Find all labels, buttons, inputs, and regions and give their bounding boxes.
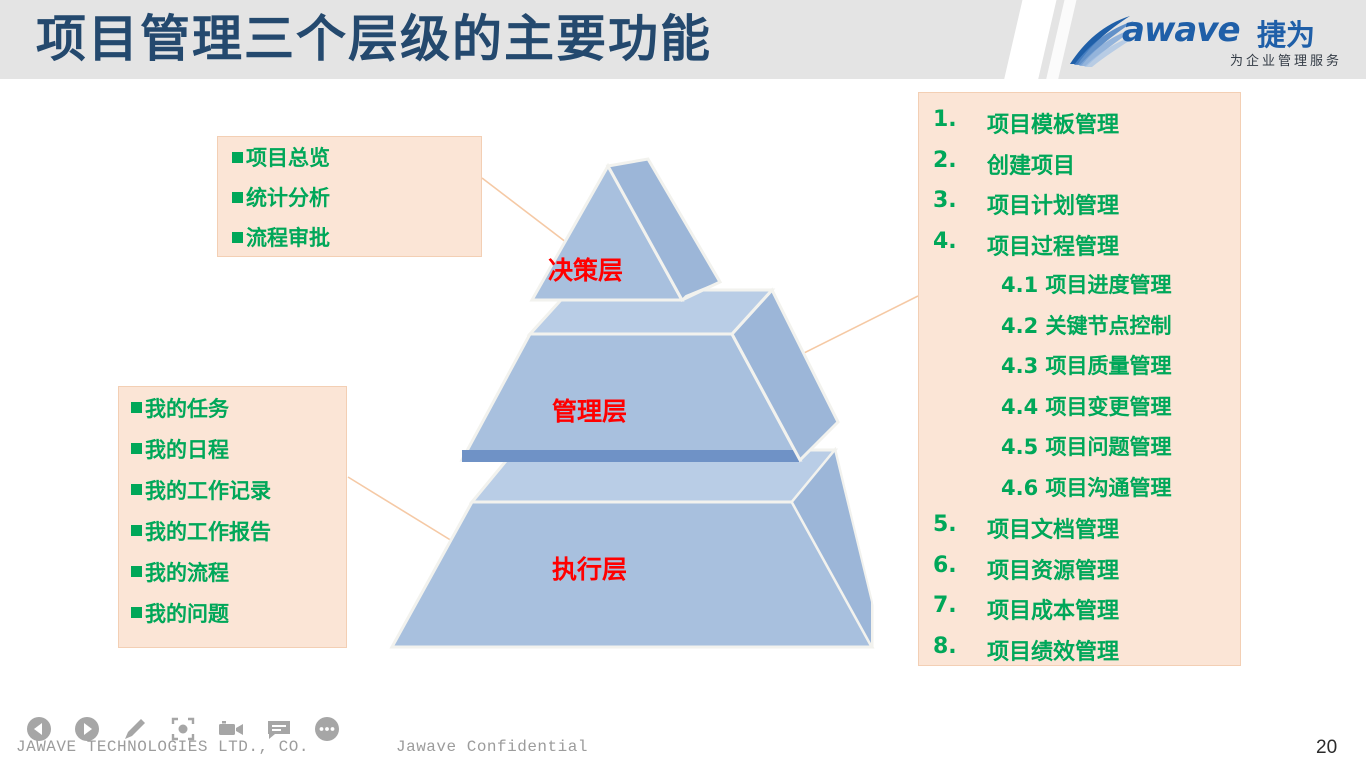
pyramid-label-decision: 决策层	[548, 251, 623, 287]
list-item-label: 项目总览	[246, 142, 330, 172]
list-item[interactable]: 4.6 项目沟通管理	[919, 472, 1240, 513]
square-bullet-icon	[131, 566, 142, 577]
page-title: 项目管理三个层级的主要功能	[36, 4, 712, 74]
logo-brand-cn: 捷为	[1257, 12, 1315, 54]
callout-box-execution[interactable]: 我的任务 我的日程 我的工作记录 我的工作报告 我的流程 我的问题	[118, 386, 347, 648]
list-item-label: 4.2 关键节点控制	[1001, 310, 1172, 340]
list-item[interactable]: 4.5 项目问题管理	[919, 431, 1240, 472]
list-item-number: 1.	[919, 107, 987, 132]
list-item[interactable]: 4.1 项目进度管理	[919, 269, 1240, 310]
square-bullet-icon	[232, 192, 243, 203]
list-item-label: 我的流程	[145, 557, 229, 587]
list-item-number: 3.	[919, 188, 987, 213]
list-item[interactable]: 4.3 项目质量管理	[919, 350, 1240, 391]
list-item-label: 项目计划管理	[987, 188, 1119, 220]
list-item[interactable]: 统计分析	[232, 177, 481, 217]
list-item[interactable]: 8.项目绩效管理	[919, 634, 1240, 675]
page-number: 20	[1316, 737, 1337, 759]
list-item[interactable]: 我的工作报告	[131, 510, 346, 551]
list-item[interactable]: 项目总览	[232, 137, 481, 177]
callout-box-management[interactable]: 1.项目模板管理 2.创建项目 3.项目计划管理 4.项目过程管理 4.1 项目…	[918, 92, 1241, 666]
square-bullet-icon	[232, 152, 243, 163]
pyramid-label-execution: 执行层	[552, 550, 627, 586]
list-item-label: 我的工作记录	[145, 475, 271, 505]
list-item-label: 项目文档管理	[987, 512, 1119, 544]
list-item[interactable]: 1.项目模板管理	[919, 107, 1240, 148]
pyramid-label-management: 管理层	[552, 392, 627, 428]
list-item-number: 8.	[919, 634, 987, 659]
list-item-number: 6.	[919, 553, 987, 578]
list-item-label: 项目成本管理	[987, 593, 1119, 625]
list-item-number: 7.	[919, 593, 987, 618]
logo-tagline: 为企业管理服务	[1230, 50, 1342, 69]
list-item[interactable]: 我的流程	[131, 551, 346, 592]
square-bullet-icon	[131, 443, 142, 454]
list-item[interactable]: 我的问题	[131, 592, 346, 633]
square-bullet-icon	[131, 525, 142, 536]
pyramid-layer-management[interactable]	[462, 290, 838, 462]
list-item-label: 4.6 项目沟通管理	[1001, 472, 1172, 502]
list-item-label: 4.5 项目问题管理	[1001, 431, 1172, 461]
list-item-label: 我的任务	[145, 393, 229, 423]
list-item[interactable]: 5.项目文档管理	[919, 512, 1240, 553]
list-item-label: 我的日程	[145, 434, 229, 464]
footer-confidential-text: Jawave Confidential	[396, 738, 588, 756]
list-item-label: 项目过程管理	[987, 229, 1119, 261]
list-item[interactable]: 6.项目资源管理	[919, 553, 1240, 594]
pyramid-layer-execution[interactable]	[392, 450, 872, 647]
square-bullet-icon	[131, 402, 142, 413]
list-item-label: 项目模板管理	[987, 107, 1119, 139]
slide-header: 项目管理三个层级的主要功能 awave 捷为 为企业管理服务	[0, 0, 1366, 79]
list-item-label: 流程审批	[246, 222, 330, 252]
list-item-label: 项目资源管理	[987, 553, 1119, 585]
list-item[interactable]: 我的任务	[131, 387, 346, 428]
list-item[interactable]: 流程审批	[232, 217, 481, 257]
list-item-number: 2.	[919, 148, 987, 173]
list-item-label: 统计分析	[246, 182, 330, 212]
callout-box-decision[interactable]: 项目总览 统计分析 流程审批	[217, 136, 482, 257]
square-bullet-icon	[232, 232, 243, 243]
list-item-number: 5.	[919, 512, 987, 537]
list-item-label: 4.1 项目进度管理	[1001, 269, 1172, 299]
list-item-number: 4.	[919, 229, 987, 254]
list-item-label: 我的工作报告	[145, 516, 271, 546]
list-item[interactable]: 4.4 项目变更管理	[919, 391, 1240, 432]
footer-company-text: JAWAVE TECHNOLOGIES LTD., CO.	[16, 738, 309, 756]
list-item[interactable]: 4.2 关键节点控制	[919, 310, 1240, 351]
list-item[interactable]: 3.项目计划管理	[919, 188, 1240, 229]
logo-brand-latin: awave	[1122, 10, 1240, 50]
list-item-label: 我的问题	[145, 598, 229, 628]
list-item[interactable]: 2.创建项目	[919, 148, 1240, 189]
list-item-label: 4.3 项目质量管理	[1001, 350, 1172, 380]
list-item[interactable]: 我的日程	[131, 428, 346, 469]
list-item[interactable]: 我的工作记录	[131, 469, 346, 510]
jawave-logo: awave 捷为 为企业管理服务	[1064, 6, 1344, 72]
more-icon[interactable]	[312, 714, 342, 744]
list-item-label: 4.4 项目变更管理	[1001, 391, 1172, 421]
square-bullet-icon	[131, 607, 142, 618]
list-item[interactable]: 4.项目过程管理	[919, 229, 1240, 270]
list-item-label: 创建项目	[987, 148, 1075, 180]
square-bullet-icon	[131, 484, 142, 495]
list-item[interactable]: 7.项目成本管理	[919, 593, 1240, 634]
list-item-label: 项目绩效管理	[987, 634, 1119, 666]
